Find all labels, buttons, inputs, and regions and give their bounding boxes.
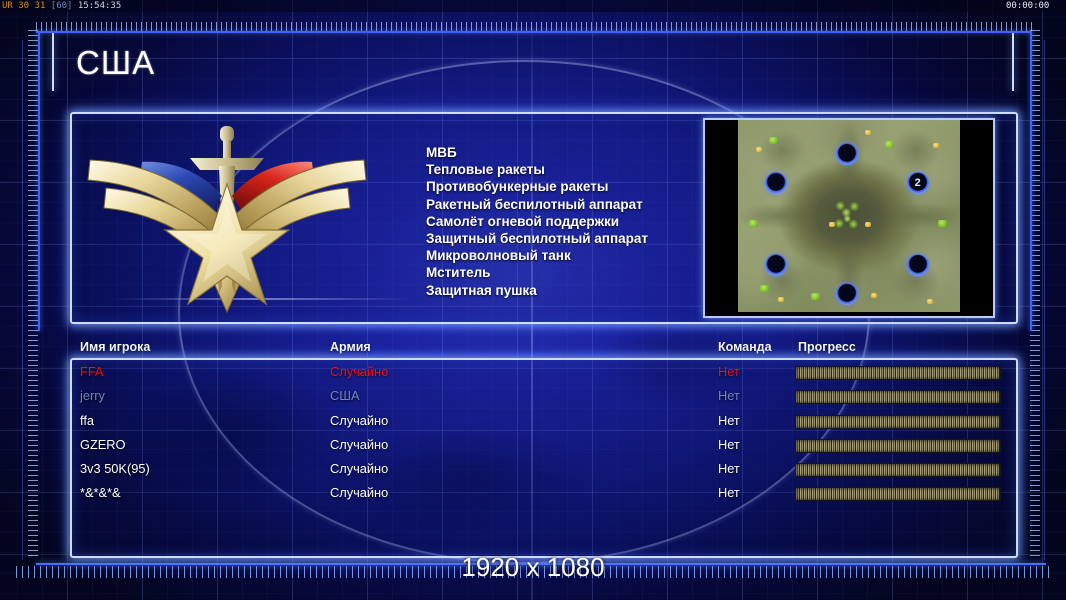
hud-stat-part: UR	[2, 1, 18, 11]
player-progress-bar	[795, 439, 1001, 453]
hud-top-bar	[0, 0, 1066, 12]
map-center-resources	[827, 199, 871, 233]
hud-stats-text: UR 30 31 [60] 15:54:35	[2, 1, 121, 11]
map-spawn-point	[765, 254, 787, 276]
frame-line-left-outer	[22, 40, 23, 560]
unit-item: Противобункерные ракеты	[426, 178, 706, 195]
player-name-cell: FFA	[80, 364, 103, 379]
table-row[interactable]: ffaСлучайноНет	[80, 413, 1010, 437]
player-progress-bar	[795, 390, 1001, 404]
column-header-progress: Прогресс	[798, 340, 856, 354]
unit-item: Ракетный беспилотный аппарат	[426, 196, 706, 213]
player-army-cell: Случайно	[330, 461, 388, 476]
unit-item: Тепловые ракеты	[426, 161, 706, 178]
unit-item: Микроволновый танк	[426, 247, 706, 264]
map-image: 2	[738, 120, 960, 312]
page-title: США	[76, 44, 155, 82]
column-header-player-name: Имя игрока	[80, 340, 150, 354]
player-name-cell: 3v3 50K(95)	[80, 461, 150, 476]
unit-item: МВБ	[426, 144, 706, 161]
table-row[interactable]: FFAСлучайноНет	[80, 364, 1010, 388]
column-header-team: Команда	[718, 340, 772, 354]
player-team-cell: Нет	[718, 461, 740, 476]
table-row[interactable]: *&*&*&СлучайноНет	[80, 485, 1010, 509]
frame-line-right	[1030, 31, 1032, 331]
map-spawn-point	[765, 172, 787, 194]
player-army-cell: Случайно	[330, 364, 388, 379]
player-progress-bar	[795, 487, 1001, 501]
player-name-cell: *&*&*&	[80, 485, 121, 500]
unit-item: Самолёт огневой поддержки	[426, 213, 706, 230]
player-progress-bar	[795, 366, 1001, 380]
player-team-cell: Нет	[718, 364, 740, 379]
frame-line-right-outer	[1044, 40, 1045, 560]
player-army-cell: США	[330, 388, 360, 403]
hud-stat-part: 15:54:35	[78, 1, 121, 11]
player-army-cell: Случайно	[330, 437, 388, 452]
unit-item: Защитный беспилотный аппарат	[426, 230, 706, 247]
hud-stat-part: [60]	[51, 1, 78, 11]
table-row[interactable]: 3v3 50K(95)СлучайноНет	[80, 461, 1010, 485]
player-team-cell: Нет	[718, 485, 740, 500]
table-row[interactable]: jerryСШАНет	[80, 388, 1010, 412]
map-preview: 2	[703, 118, 995, 318]
player-progress-bar	[795, 463, 1001, 477]
player-name-cell: ffa	[80, 413, 94, 428]
player-team-cell: Нет	[718, 437, 740, 452]
player-table-header: Имя игрока Армия Команда Прогресс	[80, 340, 1010, 358]
player-army-cell: Случайно	[330, 413, 388, 428]
hud-timer: 00:00:00	[1006, 1, 1049, 11]
usa-eagle-emblem	[82, 118, 372, 316]
player-army-cell: Случайно	[330, 485, 388, 500]
player-name-cell: jerry	[80, 388, 105, 403]
map-spawn-point: 2	[907, 172, 929, 194]
player-team-cell: Нет	[718, 388, 740, 403]
header-panel-left-edge	[52, 33, 54, 91]
hud-stat-part: 30	[18, 1, 34, 11]
loading-screen: США	[0, 0, 1066, 600]
map-spawn-point	[836, 143, 858, 165]
unit-item: Защитная пушка	[426, 282, 706, 299]
header-panel-right-edge	[1012, 33, 1014, 91]
column-header-army: Армия	[330, 340, 371, 354]
unit-item: Мститель	[426, 264, 706, 281]
frame-ruler-left	[28, 30, 38, 558]
map-spawn-point	[836, 283, 858, 305]
player-table-body: FFAСлучайноНетjerryСШАНетffaСлучайноНетG…	[80, 364, 1010, 510]
player-progress-bar	[795, 415, 1001, 429]
frame-line-top	[36, 31, 1032, 33]
frame-line-left	[38, 31, 40, 331]
hud-stat-part: 31	[35, 1, 51, 11]
faction-unit-list: МВБ Тепловые ракеты Противобункерные рак…	[426, 144, 706, 299]
resolution-label: 1920 x 1080	[0, 552, 1066, 583]
player-name-cell: GZERO	[80, 437, 126, 452]
table-row[interactable]: GZEROСлучайноНет	[80, 437, 1010, 461]
map-spawn-point	[907, 254, 929, 276]
player-team-cell: Нет	[718, 413, 740, 428]
